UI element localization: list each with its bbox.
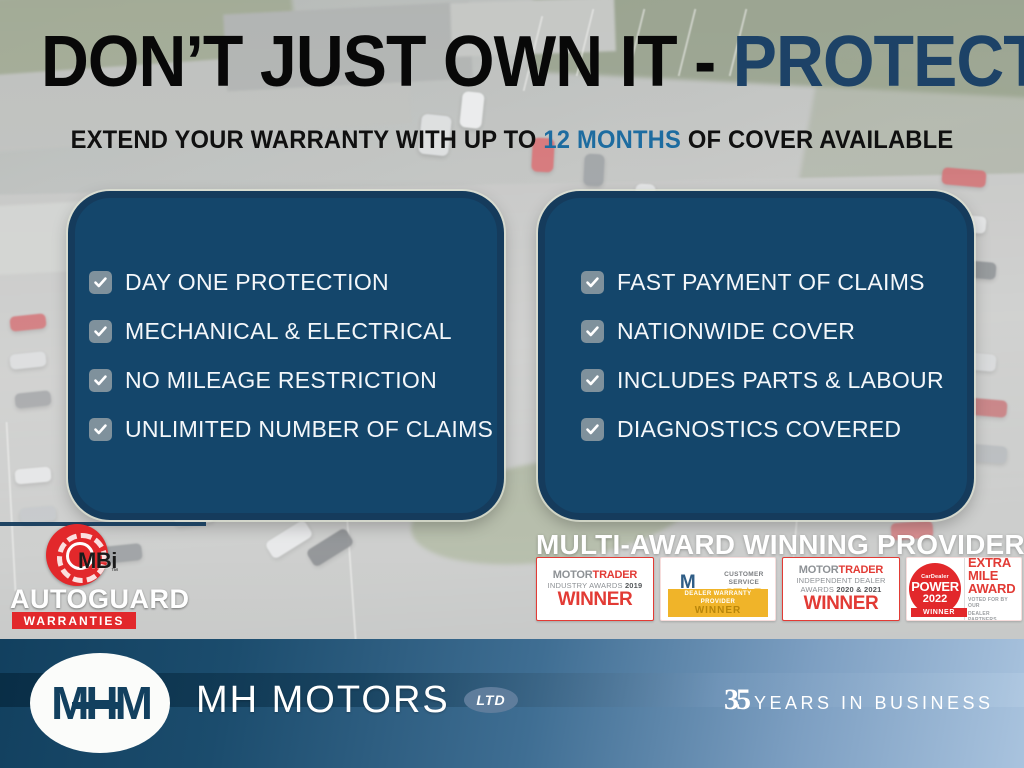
extra-mile-line-3: AWARD — [968, 582, 1019, 595]
subheadline-highlight: 12 MONTHS — [543, 126, 681, 154]
badge-brand: MOTORTRADER — [553, 569, 637, 581]
years-label: YEARS IN BUSINESS — [754, 693, 994, 714]
feature-label: FAST PAYMENT OF CLAIMS — [617, 269, 925, 296]
feature-item: INCLUDES PARTS & LABOUR — [555, 367, 967, 394]
autoguard-subtitle: WARRANTIES — [24, 614, 125, 628]
power-label: POWER — [911, 580, 959, 593]
badge-ribbon-text: DEALER WARRANTY PROVIDER — [668, 590, 768, 606]
badge-winner-label: WINNER — [558, 590, 633, 610]
award-badge-independent-dealer: MOTORTRADER INDEPENDENT DEALER AWARDS 20… — [782, 557, 900, 621]
headline-part-one: DON’T JUST OWN IT - — [41, 22, 733, 102]
mhm-logo-bar-icon — [72, 702, 118, 709]
badge-subtitle-line-1: INDEPENDENT DEALER — [796, 576, 885, 585]
badge-winner-label: WINNER — [668, 606, 768, 616]
page-title: DON’T JUST OWN IT - PROTECT IT — [41, 26, 983, 98]
extra-mile-note-2: DEALER PARTNERS — [968, 611, 1019, 622]
autoguard-subtitle-bar: WARRANTIES — [12, 612, 136, 629]
feature-item: MECHANICAL & ELECTRICAL — [85, 318, 497, 345]
headline-part-two: PROTECT IT — [733, 22, 1024, 102]
ltd-badge: LTD — [464, 687, 518, 713]
checkmark-icon — [581, 320, 604, 343]
trademark-symbol: ™ — [111, 568, 118, 575]
feature-item: FAST PAYMENT OF CLAIMS — [555, 269, 967, 296]
checkmark-icon — [581, 271, 604, 294]
feature-item: DAY ONE PROTECTION — [85, 269, 497, 296]
cs-line-1: CUSTOMER — [724, 571, 763, 579]
feature-label: DIAGNOSTICS COVERED — [617, 416, 901, 443]
footer-bar: MHM MH MOTORS LTD 35 YEARS IN BUSINESS — [0, 639, 1024, 768]
extra-mile-line-2: MILE — [968, 569, 1019, 582]
award-badge-customer-service-star: M THE MOTOR OMBUDSMAN CUSTOMER SERVICE S… — [660, 557, 776, 621]
award-badge-car-dealer-power: CarDealer POWER 2022 WINNER EXTRA MILE A… — [906, 557, 1022, 621]
mhm-logo-text: MHM — [51, 676, 149, 730]
ltd-label: LTD — [476, 692, 505, 708]
award-badge-motortrader-2019: MOTORTRADER INDUSTRY AWARDS 2019 WINNER — [536, 557, 654, 621]
checkmark-icon — [89, 418, 112, 441]
years-number: 35 — [724, 685, 748, 715]
extra-mile-note-1: VOTED FOR BY OUR — [968, 597, 1019, 609]
company-name: MH MOTORS — [196, 679, 450, 722]
feature-label: DAY ONE PROTECTION — [125, 269, 389, 296]
feature-label: INCLUDES PARTS & LABOUR — [617, 367, 944, 394]
autoguard-name: AUTOGUARD — [10, 584, 156, 615]
award-badges: MOTORTRADER INDUSTRY AWARDS 2019 WINNER … — [536, 557, 1022, 621]
years-in-business: 35 YEARS IN BUSINESS — [724, 685, 994, 715]
power-year: 2022 — [923, 593, 947, 605]
subheadline-before: EXTEND YOUR WARRANTY WITH UP TO — [71, 126, 544, 154]
feature-panel-right: FAST PAYMENT OF CLAIMS NATIONWIDE COVER … — [538, 191, 974, 520]
extra-mile-line-1: EXTRA — [968, 557, 1019, 569]
autoguard-warranties-logo: MBi ™ AUTOGUARD WARRANTIES — [16, 524, 156, 622]
feature-label: UNLIMITED NUMBER OF CLAIMS — [125, 416, 493, 443]
checkmark-icon — [581, 369, 604, 392]
feature-item: NATIONWIDE COVER — [555, 318, 967, 345]
badge-brand-red: TRADER — [593, 569, 638, 581]
feature-item: NO MILEAGE RESTRICTION — [85, 367, 497, 394]
badge-brand: MOTORTRADER — [799, 564, 883, 576]
checkmark-icon — [89, 271, 112, 294]
badge-winner-label: WINNER — [911, 608, 967, 617]
checkmark-icon — [581, 418, 604, 441]
badge-brand-grey: MOTOR — [553, 569, 593, 581]
subheadline: EXTEND YOUR WARRANTY WITH UP TO 12 MONTH… — [26, 126, 999, 155]
mhm-logo: MHM — [30, 653, 170, 753]
subheadline-after: OF COVER AVAILABLE — [681, 126, 953, 154]
feature-label: MECHANICAL & ELECTRICAL — [125, 318, 452, 345]
badge-ribbon: DEALER WARRANTY PROVIDER WINNER — [668, 589, 768, 617]
checkmark-icon — [89, 369, 112, 392]
feature-item: DIAGNOSTICS COVERED — [555, 416, 967, 443]
badge-brand-red: TRADER — [839, 564, 884, 576]
feature-label: NATIONWIDE COVER — [617, 318, 855, 345]
checkmark-icon — [89, 320, 112, 343]
feature-label: NO MILEAGE RESTRICTION — [125, 367, 437, 394]
badge-winner-label: WINNER — [804, 594, 879, 614]
feature-item: UNLIMITED NUMBER OF CLAIMS — [85, 416, 497, 443]
promo-banner: DON’T JUST OWN IT - PROTECT IT EXTEND YO… — [0, 0, 1024, 768]
feature-panel-left: DAY ONE PROTECTION MECHANICAL & ELECTRIC… — [68, 191, 504, 520]
badge-brand-grey: MOTOR — [799, 564, 839, 576]
